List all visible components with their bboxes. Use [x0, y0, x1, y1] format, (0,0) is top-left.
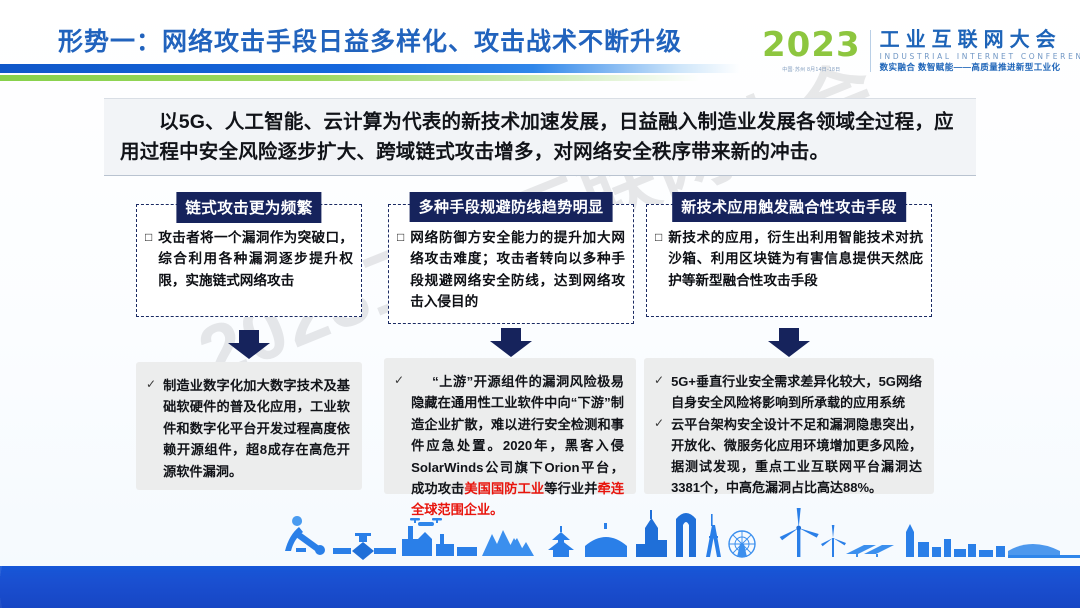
page-title: 形势一：网络攻击手段日益多样化、攻击战术不断升级 [58, 22, 682, 58]
lead-paragraph-box: 以5G、人工智能、云计算为代表的新技术加速发展，日益融入制造业发展各领域全过程，… [104, 98, 976, 176]
check-icon: ✓ [394, 371, 404, 390]
card-title-2: 多种手段规避防线趋势明显 [410, 192, 613, 222]
detail-item: ✓ 云平台架构安全设计不足和漏洞隐患突出，开放化、微服务化应用环境增加更多风险，… [654, 414, 922, 498]
detail-text-2-part1: “上游”开源组件的漏洞风险极易隐藏在通用性工业软件中向“下游”制造企业扩散，难以… [411, 374, 624, 496]
header-accent-bar-green [0, 75, 700, 81]
card-body-2: □ 网络防御方安全能力的提升加大网络攻击难度；攻击者转向以多种手段规避网络安全防… [397, 227, 625, 313]
down-arrow-2 [488, 328, 534, 358]
detail-item: ✓ 制造业数字化加大数字技术及基础软硬件的普及化应用，工业软件和数字化平台开发过… [146, 375, 350, 482]
column-3: 新技术应用触发融合性攻击手段 □ 新技术的应用，衍生出利用智能技术对抗沙箱、利用… [646, 204, 932, 317]
header-accent-bar-blue [0, 64, 740, 73]
card-body-text-1: 攻击者将一个漏洞作为突破口，综合利用各种漏洞逐步提升权限，实施链式网络攻击 [158, 227, 353, 291]
skyline-silhouette-icon [0, 506, 1080, 570]
logo-slogan: 数实融合 数智赋能——高质量推进新型工业化 [880, 63, 1080, 72]
conference-logo: 2023 中国·苏州 8月14日-18日 工业互联网大会 INDUSTRIAL … [762, 28, 1080, 73]
lead-paragraph-text: 以5G、人工智能、云计算为代表的新技术加速发展，日益融入制造业发展各领域全过程，… [104, 107, 976, 167]
detail-text-3b: 云平台架构安全设计不足和漏洞隐患突出，开放化、微服务化应用环境增加更多风险，据测… [671, 414, 922, 498]
down-arrow-1 [226, 330, 272, 360]
detail-card-2: ✓ “上游”开源组件的漏洞风险极易隐藏在通用性工业软件中向“下游”制造企业扩散，… [384, 358, 636, 494]
card-body-text-2: 网络防御方安全能力的提升加大网络攻击难度；攻击者转向以多种手段规避网络安全防线，… [410, 227, 625, 313]
detail-card-3: ✓ 5G+垂直行业安全需求差异化较大，5G网络自身安全风险将影响到所承载的应用系… [644, 358, 934, 494]
logo-divider [870, 30, 871, 72]
logo-name-block: 工业互联网大会 INDUSTRIAL INTERNET CONFERENCE 数… [880, 30, 1080, 72]
logo-year-block: 2023 中国·苏州 8月14日-18日 [762, 28, 861, 73]
check-icon: ✓ [654, 371, 664, 390]
card-title-3: 新技术应用触发融合性攻击手段 [672, 192, 906, 222]
check-icon: ✓ [146, 375, 156, 394]
detail-text-2-part2: 等行业并 [544, 481, 597, 496]
square-bullet-icon: □ [145, 227, 152, 291]
column-2: 多种手段规避防线趋势明显 □ 网络防御方安全能力的提升加大网络攻击难度；攻击者转… [388, 204, 634, 324]
column-1: 链式攻击更为频繁 □ 攻击者将一个漏洞作为突破口，综合利用各种漏洞逐步提升权限，… [136, 204, 362, 317]
detail-card-1: ✓ 制造业数字化加大数字技术及基础软硬件的普及化应用，工业软件和数字化平台开发过… [136, 362, 362, 490]
logo-date: 中国·苏州 8月14日-18日 [762, 66, 861, 73]
upper-card-2: 多种手段规避防线趋势明显 □ 网络防御方安全能力的提升加大网络攻击难度；攻击者转… [388, 204, 634, 324]
card-title-1: 链式攻击更为频繁 [176, 192, 321, 223]
square-bullet-icon: □ [655, 227, 662, 291]
square-bullet-icon: □ [397, 227, 404, 313]
sea-sheen [0, 566, 1080, 608]
logo-name-en: INDUSTRIAL INTERNET CONFERENCE [880, 53, 1080, 61]
card-body-text-3: 新技术的应用，衍生出利用智能技术对抗沙箱、利用区块链为有害信息提供天然庇护等新型… [668, 227, 923, 291]
logo-name-cn: 工业互联网大会 [880, 30, 1080, 50]
down-arrow-3 [766, 328, 812, 358]
check-icon: ✓ [654, 414, 664, 433]
detail-text-2-highlight-1: 美国国防工业 [464, 481, 544, 496]
upper-card-3: 新技术应用触发融合性攻击手段 □ 新技术的应用，衍生出利用智能技术对抗沙箱、利用… [646, 204, 932, 317]
detail-text-3a: 5G+垂直行业安全需求差异化较大，5G网络自身安全风险将影响到所承载的应用系统 [671, 371, 922, 413]
slide-canvas: 2023工业互联网大会 形势一：网络攻击手段日益多样化、攻击战术不断升级 202… [0, 0, 1080, 608]
detail-text-2: “上游”开源组件的漏洞风险极易隐藏在通用性工业软件中向“下游”制造企业扩散，难以… [411, 371, 624, 521]
detail-text-1: 制造业数字化加大数字技术及基础软硬件的普及化应用，工业软件和数字化平台开发过程高… [163, 375, 350, 482]
logo-year: 2023 [762, 28, 861, 62]
card-body-3: □ 新技术的应用，衍生出利用智能技术对抗沙箱、利用区块链为有害信息提供天然庇护等… [655, 227, 923, 291]
detail-item: ✓ 5G+垂直行业安全需求差异化较大，5G网络自身安全风险将影响到所承载的应用系… [654, 371, 922, 413]
skyline-decoration [0, 518, 1080, 608]
upper-card-1: 链式攻击更为频繁 □ 攻击者将一个漏洞作为突破口，综合利用各种漏洞逐步提升权限，… [136, 204, 362, 317]
detail-item: ✓ “上游”开源组件的漏洞风险极易隐藏在通用性工业软件中向“下游”制造企业扩散，… [394, 371, 624, 521]
card-body-1: □ 攻击者将一个漏洞作为突破口，综合利用各种漏洞逐步提升权限，实施链式网络攻击 [145, 227, 353, 291]
